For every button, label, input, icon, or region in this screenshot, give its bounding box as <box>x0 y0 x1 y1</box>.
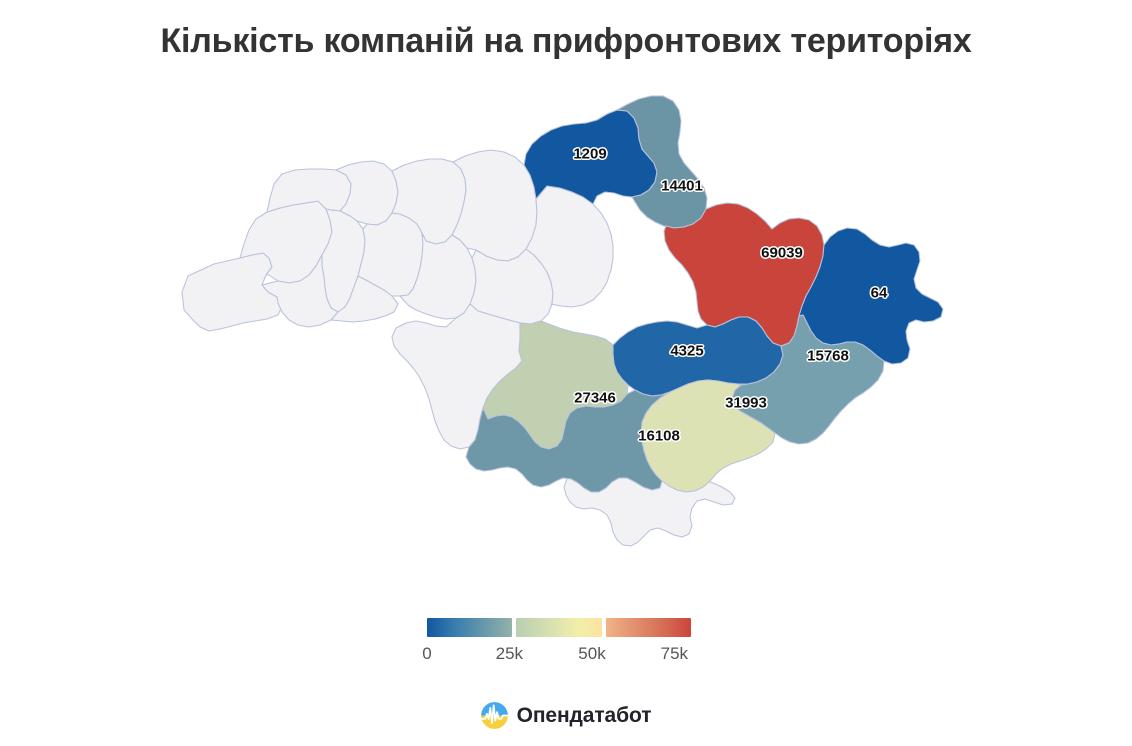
colorbar-tick-0: 0 <box>422 644 431 664</box>
colorbar-segment-high <box>606 618 691 637</box>
colorbar-legend: 0 25k 50k 75k <box>427 618 691 674</box>
choropleth-chart-root: Кількість компаній на прифронтових терит… <box>0 0 1132 746</box>
brand-footer: Опендатабот <box>0 702 1132 729</box>
colorbar-tick-labels: 0 25k 50k 75k <box>427 644 691 670</box>
ukraine-map: 1209 14401 69039 64 4325 15768 27346 319… <box>170 78 970 578</box>
page-title: Кількість компаній на прифронтових терит… <box>0 20 1132 63</box>
colorbar-gradient <box>427 618 691 637</box>
colorbar-tick-25k: 25k <box>496 644 523 664</box>
colorbar-segment-low <box>427 618 512 637</box>
colorbar-tick-75k: 75k <box>661 644 688 664</box>
oblast-zakarpattia <box>182 253 282 331</box>
oblast-kyiv <box>452 150 537 261</box>
colorbar-tick-50k: 50k <box>578 644 605 664</box>
opendatabot-logo-icon <box>481 702 508 729</box>
colorbar-segment-mid <box>516 618 601 637</box>
brand-name: Опендатабот <box>517 704 652 728</box>
